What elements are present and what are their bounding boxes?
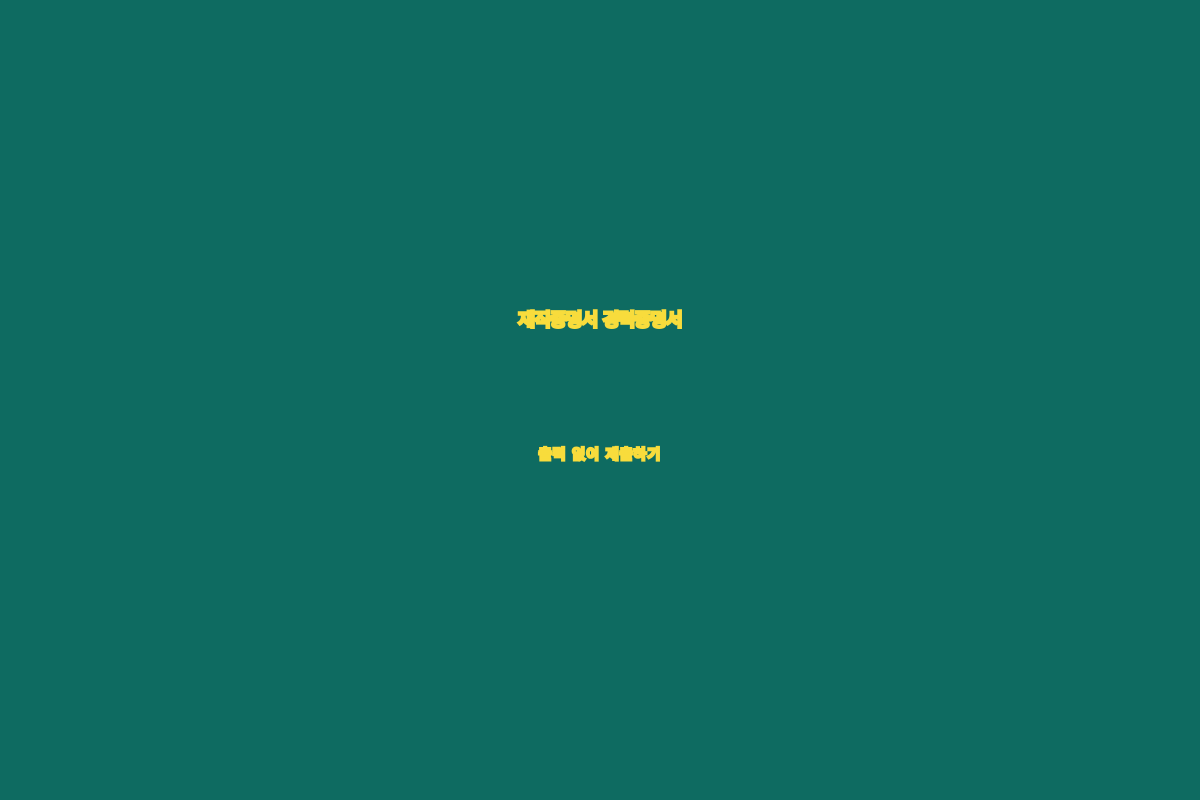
banner-canvas: 재직증명서 경력증명서 출력 없이 제출하기 xyxy=(0,0,1200,800)
headline-line-1: 재직증명서 경력증명서 xyxy=(0,253,1200,388)
headline-line-2: 출력 없이 제출하기 xyxy=(0,388,1200,523)
headline-block: 재직증명서 경력증명서 출력 없이 제출하기 xyxy=(0,253,1200,523)
